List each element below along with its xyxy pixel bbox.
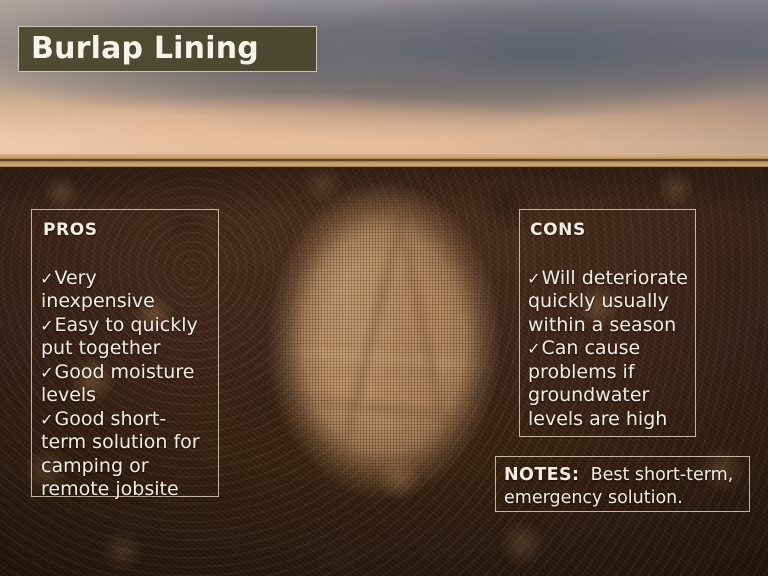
pros-list: ✓Very inexpensive ✓Easy to quickly put t… — [41, 267, 210, 502]
notes-text: NOTES: Best short-term, emergency soluti… — [504, 464, 743, 510]
list-item-label: Good short-term solution for camping or … — [41, 408, 200, 501]
pros-panel: PROS ✓Very inexpensive ✓Easy to quickly … — [31, 209, 219, 497]
check-icon: ✓ — [527, 269, 540, 288]
check-icon: ✓ — [527, 339, 540, 358]
slide: Burlap Lining PROS ✓Very inexpensive ✓Ea… — [0, 0, 768, 576]
list-item: ✓Very inexpensive — [41, 267, 210, 314]
pros-heading: PROS — [43, 221, 210, 240]
list-item-label: Can cause problems if groundwater levels… — [528, 337, 667, 430]
list-item-label: Very inexpensive — [41, 267, 155, 313]
sky-background — [0, 0, 768, 158]
list-item-label: Will deteriorate quickly usually within … — [528, 267, 688, 336]
check-icon: ✓ — [40, 316, 53, 335]
check-icon: ✓ — [40, 410, 53, 429]
burlap-fabric-photo — [258, 176, 510, 506]
list-item: ✓Easy to quickly put together — [41, 314, 210, 361]
check-icon: ✓ — [40, 363, 53, 382]
list-item: ✓Good short-term solution for camping or… — [41, 408, 210, 502]
cons-list: ✓Will deteriorate quickly usually within… — [528, 267, 689, 432]
page-title: Burlap Lining — [19, 34, 259, 64]
check-icon: ✓ — [40, 269, 53, 288]
notes-panel: NOTES: Best short-term, emergency soluti… — [495, 456, 750, 512]
cons-heading: CONS — [530, 221, 689, 240]
cons-panel: CONS ✓Will deteriorate quickly usually w… — [519, 209, 696, 437]
notes-label: NOTES: — [504, 465, 579, 485]
list-item: ✓Good moisture levels — [41, 361, 210, 408]
list-item-label: Good moisture levels — [41, 361, 194, 407]
list-item: ✓Can cause problems if groundwater level… — [528, 337, 689, 431]
list-item: ✓Will deteriorate quickly usually within… — [528, 267, 689, 338]
list-item-label: Easy to quickly put together — [41, 314, 198, 360]
slide-title-box: Burlap Lining — [18, 26, 317, 72]
